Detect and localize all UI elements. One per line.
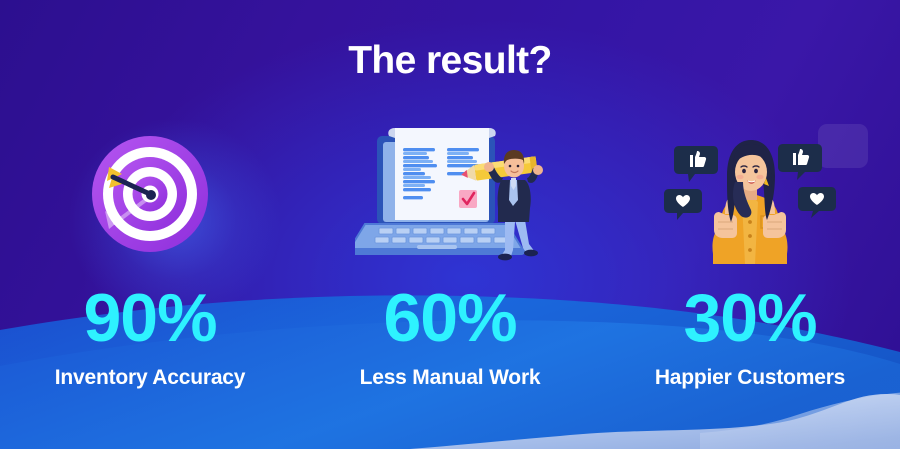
stats-row: 90% Inventory Accuracy xyxy=(0,120,900,420)
stat-card-inventory-accuracy: 90% Inventory Accuracy xyxy=(0,120,300,420)
laptop-checklist-person-pencil-icon xyxy=(355,120,545,268)
stat-value: 30% xyxy=(683,284,816,352)
page-title: The result? xyxy=(0,39,900,83)
stat-card-happier-customers: 30% Happier Customers xyxy=(600,120,900,420)
stat-label: Less Manual Work xyxy=(360,366,541,390)
stat-card-less-manual-work: 60% Less Manual Work xyxy=(300,120,600,420)
stat-label: Happier Customers xyxy=(655,366,845,390)
slide-canvas: The result? xyxy=(0,0,900,449)
target-bullseye-arrow-icon xyxy=(89,120,211,268)
stat-value: 90% xyxy=(83,284,216,352)
woman-thumbs-up-reactions-icon xyxy=(663,120,838,268)
stat-value: 60% xyxy=(383,284,516,352)
stat-label: Inventory Accuracy xyxy=(55,366,246,390)
